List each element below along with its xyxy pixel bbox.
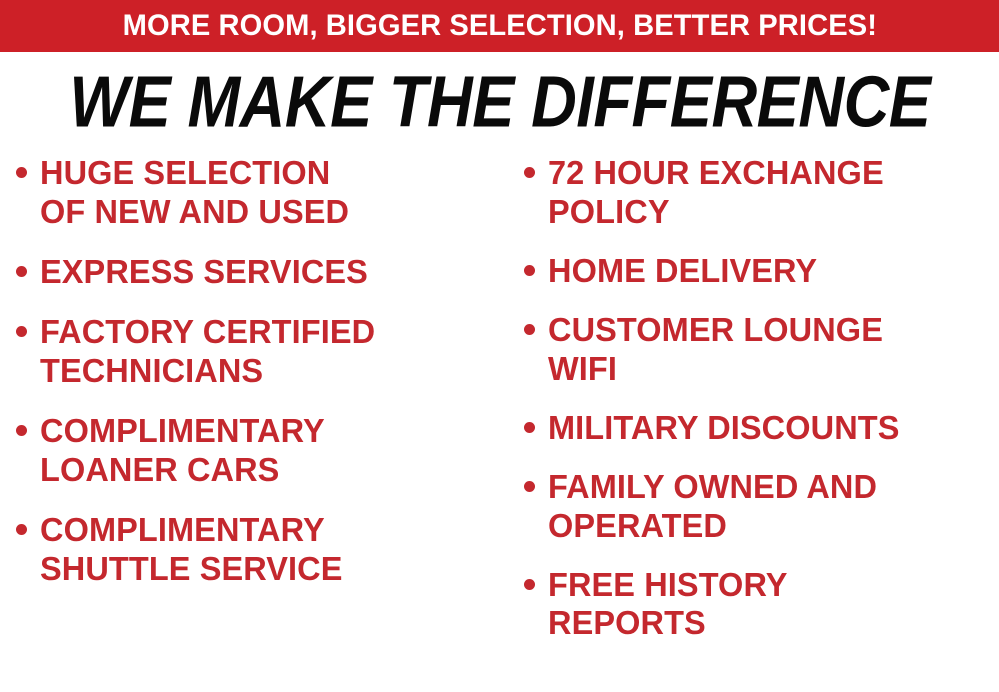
feature-text: CUSTOMER LOUNGE WIFI xyxy=(548,311,883,389)
feature-text: COMPLIMENTARY LOANER CARS xyxy=(40,412,325,490)
list-item: CUSTOMER LOUNGE WIFI xyxy=(524,311,999,389)
list-item: FACTORY CERTIFIED TECHNICIANS xyxy=(16,313,506,391)
feature-column-right: 72 HOUR EXCHANGE POLICY HOME DELIVERY CU… xyxy=(510,148,999,663)
top-ribbon-bar: MORE ROOM, BIGGER SELECTION, BETTER PRIC… xyxy=(0,0,999,52)
feature-text: EXPRESS SERVICES xyxy=(40,253,368,292)
list-item: 72 HOUR EXCHANGE POLICY xyxy=(524,154,999,232)
feature-text: COMPLIMENTARY SHUTTLE SERVICE xyxy=(40,511,343,589)
feature-column-left: HUGE SELECTION OF NEW AND USED EXPRESS S… xyxy=(0,148,510,609)
feature-text: HUGE SELECTION OF NEW AND USED xyxy=(40,154,349,232)
page-title: WE MAKE THE DIFFERENCE xyxy=(69,66,930,138)
ribbon-tagline: MORE ROOM, BIGGER SELECTION, BETTER PRIC… xyxy=(122,11,876,41)
feature-text: FAMILY OWNED AND OPERATED xyxy=(548,468,877,546)
list-item: HOME DELIVERY xyxy=(524,252,999,291)
list-item: COMPLIMENTARY SHUTTLE SERVICE xyxy=(16,511,506,589)
feature-text: FREE HISTORY REPORTS xyxy=(548,566,788,644)
bullet-dot-icon xyxy=(524,324,535,335)
bullet-dot-icon xyxy=(16,524,27,535)
bullet-dot-icon xyxy=(16,326,27,337)
headline-container: WE MAKE THE DIFFERENCE xyxy=(0,52,999,148)
list-item: FAMILY OWNED AND OPERATED xyxy=(524,468,999,546)
list-item: MILITARY DISCOUNTS xyxy=(524,409,999,448)
list-item: COMPLIMENTARY LOANER CARS xyxy=(16,412,506,490)
list-item: EXPRESS SERVICES xyxy=(16,253,506,292)
bullet-dot-icon xyxy=(524,422,535,433)
feature-columns: HUGE SELECTION OF NEW AND USED EXPRESS S… xyxy=(0,148,999,692)
list-item: FREE HISTORY REPORTS xyxy=(524,566,999,644)
bullet-dot-icon xyxy=(16,425,27,436)
bullet-dot-icon xyxy=(524,579,535,590)
bullet-dot-icon xyxy=(16,266,27,277)
bullet-dot-icon xyxy=(16,167,27,178)
bullet-dot-icon xyxy=(524,265,535,276)
bullet-dot-icon xyxy=(524,481,535,492)
promotional-banner: MORE ROOM, BIGGER SELECTION, BETTER PRIC… xyxy=(0,0,999,692)
feature-text: HOME DELIVERY xyxy=(548,252,817,291)
bullet-dot-icon xyxy=(524,167,535,178)
feature-text: 72 HOUR EXCHANGE POLICY xyxy=(548,154,884,232)
feature-text: FACTORY CERTIFIED TECHNICIANS xyxy=(40,313,375,391)
feature-text: MILITARY DISCOUNTS xyxy=(548,409,900,448)
list-item: HUGE SELECTION OF NEW AND USED xyxy=(16,154,506,232)
